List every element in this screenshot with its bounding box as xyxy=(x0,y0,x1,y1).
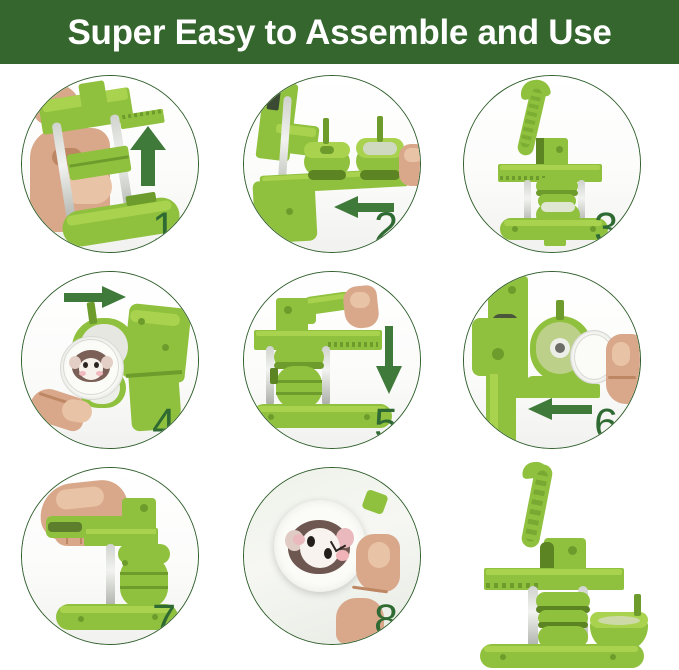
mold-barrel-line xyxy=(120,572,168,575)
step-panel-4: 4 xyxy=(10,268,229,468)
monkey-eye-left-icon xyxy=(83,362,88,368)
mold-screw-icon xyxy=(122,560,128,566)
step-panel-1: 1 xyxy=(10,72,229,272)
arrow-up-icon xyxy=(126,124,170,188)
mold-b-pin xyxy=(377,116,383,142)
base-screw-icon xyxy=(500,654,506,660)
monkey-cheek-left-icon xyxy=(79,371,86,376)
step-photo-4: 4 xyxy=(21,271,199,449)
hand-finger-line-icon xyxy=(608,376,636,379)
base-screw-icon xyxy=(610,654,616,660)
mold-lower-a-hole-icon xyxy=(320,146,334,154)
mold-disc-hub-icon xyxy=(555,343,565,353)
mold-disc-pin xyxy=(556,300,564,320)
column-screw-icon xyxy=(508,286,516,294)
mold-lower-rim xyxy=(541,202,575,212)
step-photo-1: 1 xyxy=(21,75,199,253)
monkey-eye-right-icon xyxy=(324,548,332,559)
step-panel-5: 5 xyxy=(232,268,451,468)
step-number-5: 5 xyxy=(374,403,398,446)
step-panel-2: 2 xyxy=(232,72,451,272)
base-screw-icon xyxy=(364,414,370,420)
header-banner: Super Easy to Assemble and Use xyxy=(0,0,679,64)
mold-barrel xyxy=(276,366,322,408)
base-plate-highlight xyxy=(484,646,638,652)
step-photo-7: 7 xyxy=(21,467,199,645)
cross-arm-highlight xyxy=(256,331,380,336)
pivot-screw-icon xyxy=(556,146,563,153)
press-handle-grip-icon xyxy=(48,522,82,532)
pivot-screw-icon xyxy=(140,504,148,512)
base-screw-icon xyxy=(268,414,274,420)
mold-clamp-icon xyxy=(270,368,278,384)
mold-upper-b-cavity xyxy=(363,142,397,155)
side-mold-cavity xyxy=(598,616,640,625)
base-plate-highlight xyxy=(256,406,386,412)
base-screw-icon xyxy=(512,226,518,232)
base-plate-highlight xyxy=(504,220,602,226)
step-panel-6: 6 xyxy=(452,268,671,468)
step-number-3: 3 xyxy=(594,207,618,250)
monkey-cheek-right-icon xyxy=(336,550,349,561)
monkey-eye-right-icon xyxy=(94,362,99,368)
pivot-screw-icon xyxy=(568,546,577,555)
shoulder-screw-icon xyxy=(492,348,504,360)
machine-leg-highlight xyxy=(490,374,498,442)
body-screw-icon xyxy=(138,318,145,325)
cross-arm-highlight xyxy=(86,529,156,534)
hand-grip-highlight xyxy=(350,292,370,308)
mold-upper-b-base xyxy=(360,170,400,180)
machine-shoulder xyxy=(472,318,526,376)
monkey-muzzle-icon xyxy=(79,358,103,380)
base-tab xyxy=(544,236,566,246)
step-photo-3: 3 xyxy=(463,75,641,253)
step-photo-8: 8 xyxy=(243,467,421,645)
step-photo-2: 2 xyxy=(243,75,421,253)
mold-barrel-line xyxy=(276,380,322,383)
step-photo-6: 6 xyxy=(463,271,641,449)
press-arm-neck xyxy=(78,80,108,110)
step-number-1: 1 xyxy=(152,207,176,250)
step-number-2: 2 xyxy=(374,207,398,250)
cross-arm-highlight xyxy=(486,569,622,575)
step-panel-3: 3 xyxy=(452,72,671,272)
cross-arm-highlight xyxy=(500,165,600,170)
monkey-cheek-left-icon xyxy=(293,534,305,545)
step-number-6: 6 xyxy=(594,403,618,446)
hand-finger-highlight xyxy=(404,148,421,162)
pivot-screw-icon xyxy=(284,306,292,314)
guide-rod xyxy=(106,544,115,610)
cross-arm-teeth-icon xyxy=(328,342,378,347)
step-panel-8: 8 xyxy=(232,464,451,664)
base-foot-screw-icon xyxy=(286,208,293,215)
arrow-left-icon xyxy=(526,396,594,422)
steps-grid: 1 xyxy=(0,64,679,670)
product-panel xyxy=(452,456,671,656)
hand-finger-highlight xyxy=(612,342,630,366)
base-screw-icon xyxy=(78,616,84,622)
mold-lower-a-base xyxy=(308,170,346,180)
step-number-8: 8 xyxy=(374,599,398,642)
mold-a-pin xyxy=(323,118,329,144)
step-number-4: 4 xyxy=(152,403,176,446)
mold-barrel-line xyxy=(276,392,322,395)
side-mold-pin xyxy=(634,594,641,616)
arrow-down-icon xyxy=(374,324,404,396)
mold-barrel-line xyxy=(120,586,168,589)
monkey-cheek-right-icon xyxy=(96,371,103,376)
step-panel-7: 7 xyxy=(10,464,229,664)
step-photo-5: 5 xyxy=(243,271,421,449)
product-photo xyxy=(452,456,671,670)
body-screw-icon xyxy=(162,344,169,351)
step-number-7: 7 xyxy=(152,599,176,642)
base-foot xyxy=(252,178,317,243)
page-title: Super Easy to Assemble and Use xyxy=(67,15,611,50)
monkey-eye-left-icon xyxy=(307,536,315,547)
arrow-right-icon xyxy=(58,284,128,310)
hand-finger-nail-icon xyxy=(368,542,390,568)
